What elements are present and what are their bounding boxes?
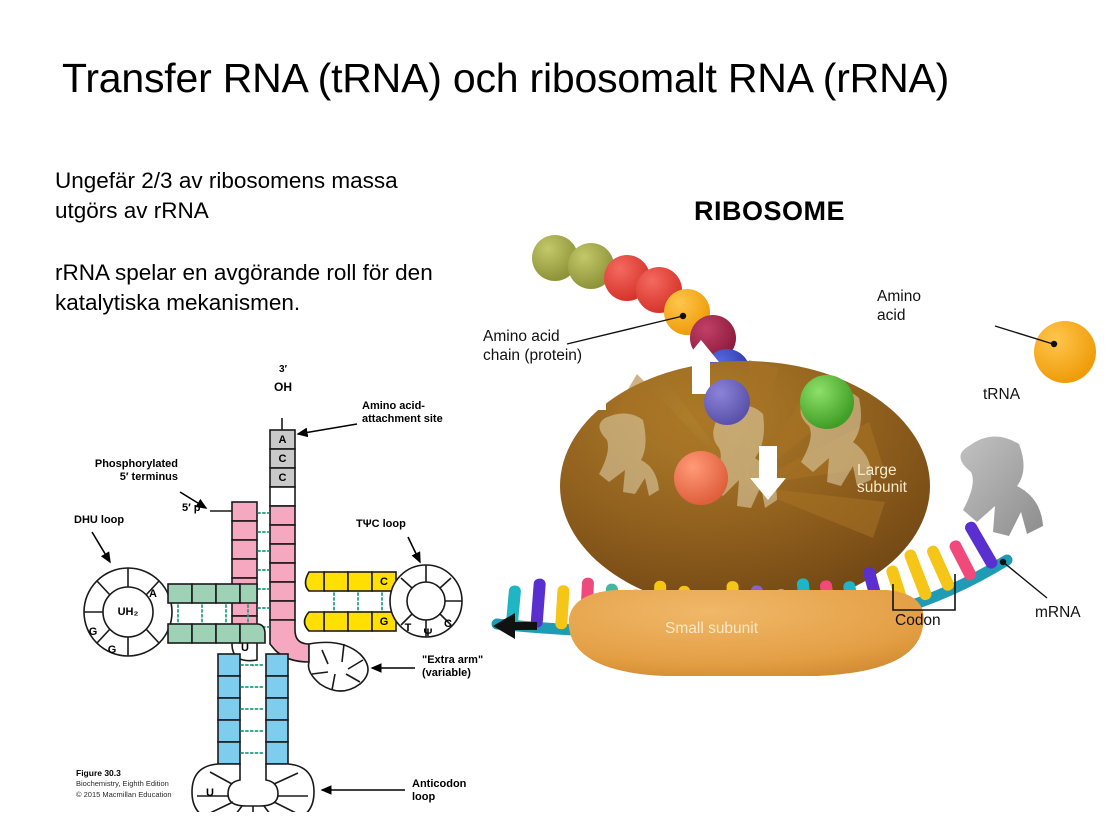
nt-dhu-a: A — [149, 588, 157, 600]
label-small-subunit: Small subunit — [665, 620, 758, 639]
label-five-prime-p: 5′ p — [182, 502, 201, 515]
nt-acceptor-c1: C — [279, 453, 287, 465]
nt-dhu-g2: G — [108, 644, 117, 656]
free-trna — [960, 321, 1096, 536]
nt-acceptor-c2: C — [279, 472, 287, 484]
figure-caption-number: Figure 30.3 — [76, 768, 121, 778]
nt-anticodon-u: U — [206, 787, 214, 799]
nt-dhu-center: UH₂ — [118, 606, 139, 618]
label-anticodon-loop: Anticodon loop — [412, 778, 466, 804]
figure-caption-source: Biochemistry, Eighth Edition — [76, 779, 169, 788]
label-oh: OH — [265, 380, 301, 394]
amino-acid-sphere — [1034, 321, 1096, 383]
nt-acceptor-a: A — [279, 434, 287, 446]
mrna-base — [530, 578, 546, 628]
sphere-salmon — [674, 451, 728, 505]
nt-tpsic-t: T — [405, 622, 412, 634]
dhu-loop: UH₂ A G G — [84, 568, 172, 656]
sphere-violet — [704, 379, 750, 425]
tpsic-loop: T Ψ C — [390, 565, 462, 639]
mrna-base — [555, 585, 570, 630]
anticodon-stem — [218, 654, 288, 764]
mrna-direction-arrow — [493, 613, 537, 639]
hbonds-acceptor — [258, 513, 269, 627]
nt-tpsic-c2: C — [444, 618, 452, 630]
label-extra-arm: "Extra arm" (variable) — [422, 654, 483, 680]
page-title: Transfer RNA (tRNA) och ribosomalt RNA (… — [62, 55, 949, 102]
label-mrna: mRNA — [1035, 604, 1081, 623]
mrna-base — [925, 544, 956, 593]
extra-arm — [308, 642, 368, 691]
nt-tpsic-psi: Ψ — [424, 627, 433, 639]
body-paragraph-2: rRNA spelar en avgörande roll för den ka… — [55, 258, 455, 318]
label-trna: tRNA — [983, 386, 1020, 405]
figure-caption-copyright: © 2015 Macmillan Education — [76, 790, 172, 799]
mrna-leader — [1000, 559, 1047, 598]
label-amino-acid-attachment: Amino acid- attachment site — [362, 400, 443, 426]
ribosome-figure: Amino acid chain (protein) Amino acid tR… — [487, 186, 1097, 676]
trna-cloverleaf-figure: .o{stroke:#1a1a1a;stroke-width:1.6;} .hb… — [60, 372, 480, 812]
label-codon: Codon — [895, 612, 941, 631]
body-paragraph-1: Ungefär 2/3 av ribosomens massa utgörs a… — [55, 166, 455, 226]
label-large-subunit: Large subunit — [857, 462, 907, 497]
tpsic-stem: C G — [305, 572, 397, 631]
mrna-base — [948, 538, 978, 582]
trna-diagram-svg: .o{stroke:#1a1a1a;stroke-width:1.6;} .hb… — [60, 372, 480, 812]
label-amino-acid-chain: Amino acid chain (protein) — [483, 328, 582, 365]
figure-caption: Figure 30.3 Biochemistry, Eighth Edition… — [76, 768, 172, 800]
nt-dhu-g1: G — [89, 626, 98, 638]
label-three-prime: 3′ — [268, 364, 298, 376]
nt-tpsic-g: G — [380, 616, 389, 628]
nt-tpsic-c1: C — [380, 576, 388, 588]
label-phosphorylated-terminus: Phosphorylated 5′ terminus — [18, 458, 178, 484]
label-tpsic-loop: TΨC loop — [356, 518, 406, 531]
ribosome-diagram-svg — [487, 186, 1097, 676]
acceptor-stem-3prime: A C C — [270, 418, 309, 662]
anticodon-loop: U — [192, 764, 314, 812]
sphere-green — [800, 375, 854, 429]
label-dhu-loop: DHU loop — [74, 514, 124, 527]
label-amino-acid: Amino acid — [877, 288, 921, 325]
